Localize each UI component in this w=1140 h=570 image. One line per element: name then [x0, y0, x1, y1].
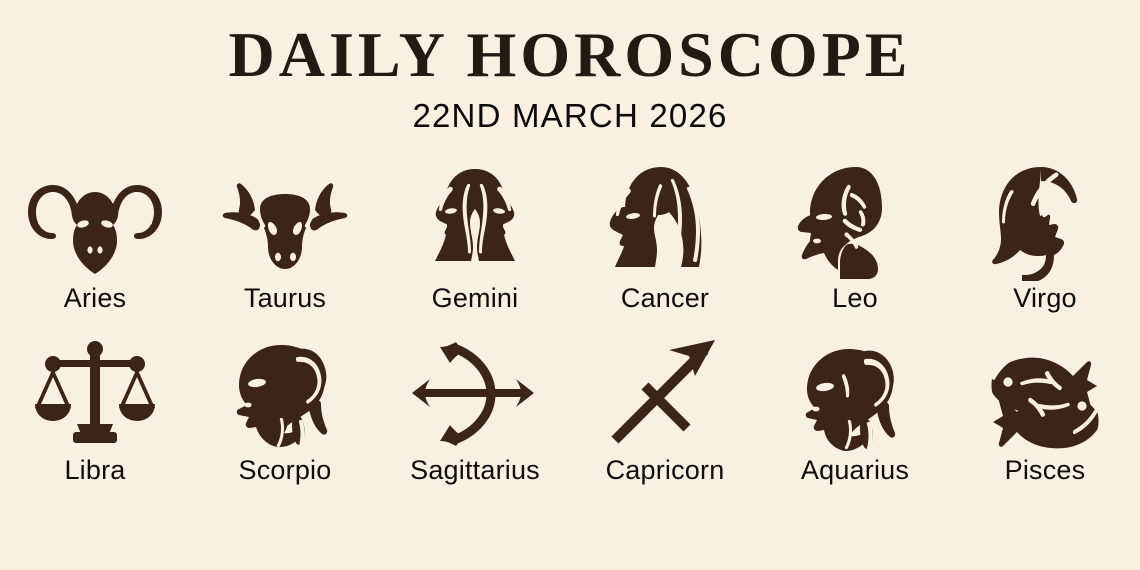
sign-label: Gemini: [432, 285, 519, 312]
zodiac-sign-leo[interactable]: Leo: [760, 163, 950, 323]
twin-profiles-icon: [405, 163, 545, 281]
zodiac-sign-aquarius[interactable]: Aquarius: [760, 335, 950, 495]
scales-icon: [33, 335, 157, 453]
sign-label: Aquarius: [801, 457, 909, 484]
sign-label: Sagittarius: [410, 457, 540, 484]
arrow-glyph-icon: [601, 335, 729, 453]
zodiac-sign-sagittarius[interactable]: Sagittarius: [380, 335, 570, 495]
sign-label: Libra: [64, 457, 125, 484]
poster-header: DAILY HOROSCOPE 22ND MARCH 2026: [0, 0, 1140, 135]
horoscope-poster: DAILY HOROSCOPE 22ND MARCH 2026: [0, 0, 1140, 570]
two-fish-icon: [975, 335, 1115, 453]
woman-profile-icon: [599, 163, 731, 281]
sign-label: Cancer: [621, 285, 709, 312]
bull-head-icon: [218, 163, 352, 281]
page-title: DAILY HOROSCOPE: [0, 0, 1140, 87]
zodiac-sign-scorpio[interactable]: Scorpio: [190, 335, 380, 495]
sign-label: Aries: [64, 285, 127, 312]
sign-label: Taurus: [244, 285, 326, 312]
horned-goat-head-icon: [787, 335, 923, 453]
ram-head-icon: [27, 163, 163, 281]
sign-label: Pisces: [1005, 457, 1086, 484]
zodiac-sign-libra[interactable]: Libra: [0, 335, 190, 495]
maiden-profile-icon: [979, 163, 1111, 281]
lion-head-icon: [790, 163, 920, 281]
zodiac-sign-cancer[interactable]: Cancer: [570, 163, 760, 323]
sign-label: Virgo: [1013, 285, 1077, 312]
sign-label: Scorpio: [239, 457, 332, 484]
zodiac-grid: Aries: [0, 163, 1140, 495]
zodiac-row: Libra: [0, 335, 1140, 495]
poster-date: 22ND MARCH 2026: [0, 87, 1140, 135]
zodiac-row: Aries: [0, 163, 1140, 323]
zodiac-sign-gemini[interactable]: Gemini: [380, 163, 570, 323]
zodiac-sign-taurus[interactable]: Taurus: [190, 163, 380, 323]
zodiac-sign-aries[interactable]: Aries: [0, 163, 190, 323]
bow-and-arrow-icon: [408, 335, 542, 453]
zodiac-sign-pisces[interactable]: Pisces: [950, 335, 1140, 495]
zodiac-sign-virgo[interactable]: Virgo: [950, 163, 1140, 323]
sign-label: Capricorn: [606, 457, 725, 484]
goat-head-icon: [217, 335, 353, 453]
zodiac-sign-capricorn[interactable]: Capricorn: [570, 335, 760, 495]
sign-label: Leo: [832, 285, 878, 312]
